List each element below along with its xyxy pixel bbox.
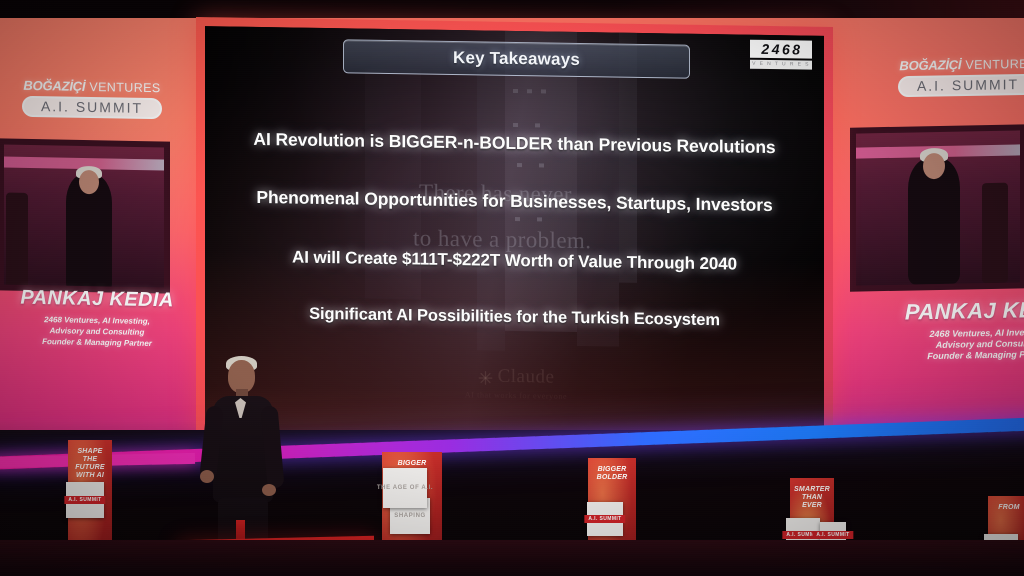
brand-bogazici-text: BOĞAZİÇİ xyxy=(23,79,85,93)
side-screen-right-feed xyxy=(856,130,1020,285)
stage-banner-5-text: FROM xyxy=(992,504,1024,512)
slide-bullet-2: Phenomenal Opportunities for Businesses,… xyxy=(205,188,824,215)
presenter-left-hand xyxy=(200,470,214,483)
speaker-role-right-line-3: Founder & Managing Partner xyxy=(894,348,1024,362)
brand-summit-text: A.I. SUMMIT xyxy=(24,98,160,115)
brand-wordmark-row: BOĞAZİÇİ VENTURES xyxy=(22,79,162,95)
stage-banner-4-text: SMARTER THAN EVER xyxy=(794,486,830,510)
brand-logo-right: BOĞAZİÇİ VENTURES A.I. SUMMIT xyxy=(898,57,1024,98)
stage-banner-3-logo-card: A.I. SUMMIT xyxy=(587,502,623,536)
brand-summit-pill-right: A.I. SUMMIT xyxy=(898,73,1024,97)
slide-logo-number: 2468 xyxy=(750,40,812,59)
projection-screen-frame: There has never to have a problem. xyxy=(196,17,833,453)
slide-title: Key Takeaways xyxy=(453,48,580,70)
slide-bullet-list: AI Revolution is BIGGER-n-BOLDER than Pr… xyxy=(205,130,824,330)
speaker-name-right: PANKAJ KEDIA xyxy=(894,296,1024,325)
conference-stage-photo: BOĞAZİÇİ VENTURES A.I. SUMMIT BOĞAZİÇİ V… xyxy=(0,0,1024,576)
brand-bogazici-text-right: BOĞAZİÇİ xyxy=(899,58,961,72)
brand-ventures-text: VENTURES xyxy=(89,81,160,95)
presentation-slide: There has never to have a problem. xyxy=(205,26,824,444)
side-screen-left xyxy=(0,138,170,293)
brand-ventures-text-right: VENTURES xyxy=(965,58,1024,72)
slide-title-pill: Key Takeaways xyxy=(343,39,690,78)
speaker-nameplate-right: PANKAJ KEDIA 2468 Ventures, AI Investing… xyxy=(894,296,1024,362)
speaker-nameplate-left: PANKAJ KEDIA 2468 Ventures, AI Investing… xyxy=(2,286,192,349)
stage-banner-1-text: SHAPE THE FUTURE WITH AI xyxy=(72,448,108,480)
brand-logo-left: BOĞAZİÇİ VENTURES A.I. SUMMIT xyxy=(22,79,162,120)
stage-banner-1-logo: A.I. SUMMIT xyxy=(64,496,105,504)
slide-logo-subtitle: V E N T U R E S xyxy=(750,60,812,70)
side-screen-right xyxy=(850,124,1024,291)
stage-floor xyxy=(0,540,1024,576)
side-feed-banner-right xyxy=(982,183,1008,283)
stage-banner-3-text: BIGGER BOLDER xyxy=(592,466,632,482)
brand-summit-pill: A.I. SUMMIT xyxy=(22,95,162,119)
side-feed-banner xyxy=(6,193,28,288)
speaker-name: PANKAJ KEDIA xyxy=(2,286,192,312)
stage-cluster-card: THE AGE OF A.I. xyxy=(383,468,427,508)
presenter-right-hand xyxy=(262,484,276,496)
side-screen-left-feed xyxy=(4,144,164,287)
stage-cluster-caption: THE AGE OF A.I. xyxy=(377,484,433,492)
brand-summit-text-right: A.I. SUMMIT xyxy=(900,76,1024,93)
brand-wordmark-row-right: BOĞAZİÇİ VENTURES xyxy=(898,57,1024,73)
stage-banner-3-logo: A.I. SUMMIT xyxy=(584,515,625,523)
slide-bullet-3: AI will Create $111T-$222T Worth of Valu… xyxy=(205,247,824,274)
slide-logo-2468: 2468 V E N T U R E S xyxy=(750,40,812,70)
stage-banner-4-logo-2: A.I. SUMMIT xyxy=(812,531,853,539)
ceiling-band xyxy=(0,0,1024,18)
stage-banner-2-caption: SHAPING xyxy=(394,512,426,520)
side-feed-speaker-head xyxy=(79,170,99,194)
stage-banner-1-logo-card: A.I. SUMMIT xyxy=(66,482,104,518)
